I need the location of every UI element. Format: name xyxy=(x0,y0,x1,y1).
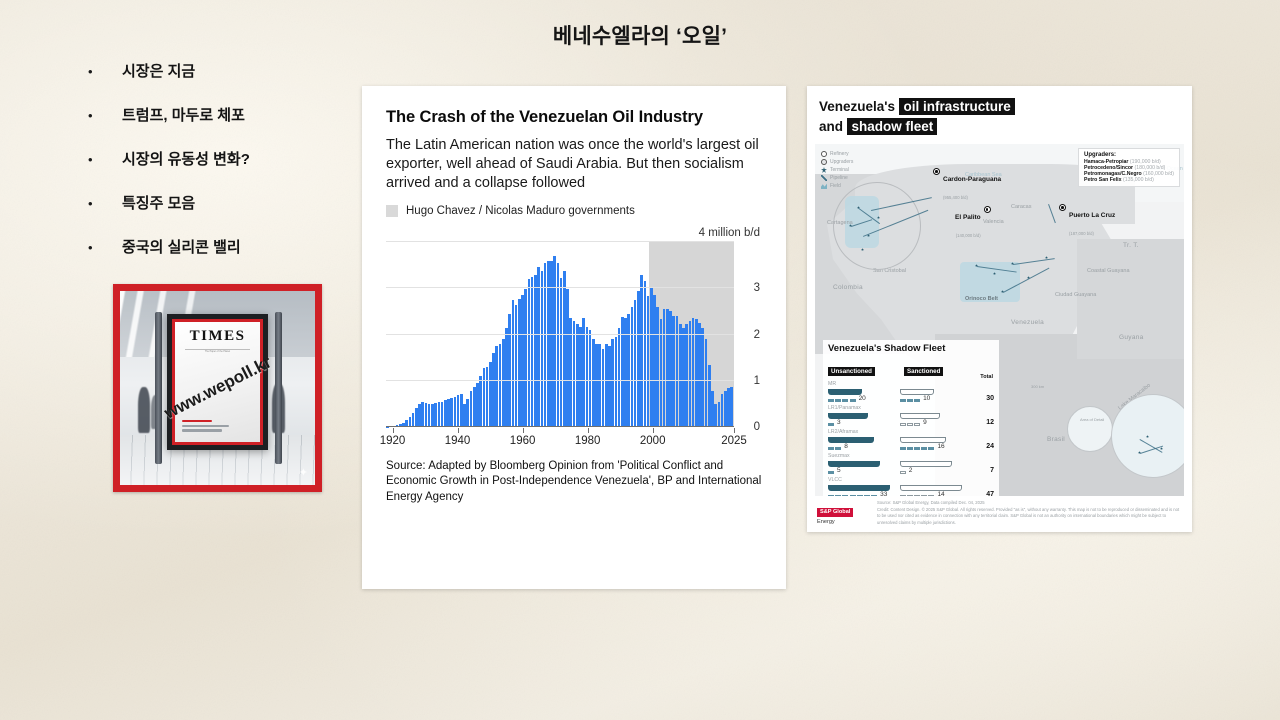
map-panel: Venezuela's oil infrastructure and shado… xyxy=(807,86,1192,532)
y-tick-label: 2 xyxy=(754,329,760,341)
count-block xyxy=(914,447,920,450)
magazine-subhead: The Paper of the Planet xyxy=(185,350,250,353)
bar xyxy=(589,330,592,428)
count-block xyxy=(914,399,920,402)
bar xyxy=(637,291,640,427)
list-item[interactable]: • 시장은 지금 xyxy=(88,60,388,94)
sanctioned-count: 16 xyxy=(937,443,944,450)
upgraders-title: Upgraders: xyxy=(1084,152,1174,158)
chart-legend: Hugo Chavez / Nicolas Maduro governments xyxy=(386,205,762,217)
bar xyxy=(634,300,637,427)
map-header: Venezuela's oil infrastructure and shado… xyxy=(807,86,1192,142)
bar xyxy=(727,388,730,427)
bullet-marker-icon: • xyxy=(88,241,122,254)
bar xyxy=(492,353,495,427)
legend-item-label: Field xyxy=(830,183,841,189)
chart-plot-area: 0123 192019401960198020002025 xyxy=(386,242,762,445)
bar xyxy=(415,408,418,427)
bar xyxy=(444,400,447,427)
bar xyxy=(531,277,534,427)
bar xyxy=(563,271,566,427)
count-blocks xyxy=(828,447,841,450)
bar xyxy=(569,318,572,427)
site-capacity: (955,400 b/d) xyxy=(943,195,968,200)
bar xyxy=(698,323,701,428)
sanctioned-count: 10 xyxy=(923,395,930,402)
country-label-venezuela: Venezuela xyxy=(1011,319,1044,326)
logo-sub: Energy xyxy=(817,519,869,525)
count-block xyxy=(914,495,920,496)
bar-series xyxy=(386,242,734,427)
bar xyxy=(550,261,553,427)
column-header-unsanctioned: Unsanctioned xyxy=(828,367,875,376)
bar xyxy=(644,281,647,428)
bar xyxy=(595,344,598,427)
bar xyxy=(486,367,489,427)
ship-icon xyxy=(900,413,940,419)
count-block xyxy=(835,447,841,450)
bar xyxy=(418,404,421,427)
x-tick-label: 2000 xyxy=(640,435,666,447)
bar xyxy=(566,289,569,427)
pipeline-icon xyxy=(821,175,827,181)
inset-label: Area of Detail xyxy=(1080,417,1104,422)
gridline xyxy=(386,334,734,335)
y-tick-label: 0 xyxy=(754,421,760,433)
map-title-part: and xyxy=(819,119,843,134)
place-label-caracas: Caracas xyxy=(1011,204,1031,210)
shadow-fleet-table: Venezuela's Shadow Fleet Unsanctioned Sa… xyxy=(823,340,999,496)
bar xyxy=(441,402,444,427)
bar xyxy=(450,398,453,428)
row-total: 47 xyxy=(966,491,994,496)
bar xyxy=(476,383,479,427)
bar xyxy=(541,271,544,427)
bar xyxy=(428,404,431,427)
site-el-palito[interactable]: El Palito (140,000 b/d) xyxy=(955,206,991,242)
chart-description: The Latin American nation was once the w… xyxy=(386,136,762,193)
scale-label: 300 km xyxy=(1031,384,1044,389)
table-row: 3912 xyxy=(828,411,994,426)
refinery-icon xyxy=(933,168,940,175)
bar xyxy=(505,328,508,427)
bar xyxy=(647,296,650,427)
count-block xyxy=(921,447,927,450)
bar xyxy=(479,376,482,427)
ship-icon xyxy=(828,389,862,395)
fleet-total-cell: 12 xyxy=(966,411,994,426)
text-line xyxy=(182,429,221,431)
x-tick xyxy=(523,428,524,433)
site-label: Puerto La Cruz xyxy=(1069,212,1115,219)
count-block xyxy=(900,471,906,474)
count-block xyxy=(907,399,913,402)
list-item-label: 시장의 유동성 변화? xyxy=(122,148,250,169)
refinery-icon xyxy=(821,151,827,157)
bar xyxy=(618,328,621,427)
bar xyxy=(412,413,415,427)
area-of-detail-inset: Area of Detail xyxy=(1067,406,1113,452)
sanctioned-count: 14 xyxy=(937,491,944,496)
bullet-list: • 시장은 지금 • 트럼프, 마두로 체포 • 시장의 유동성 변화? • 특… xyxy=(88,60,388,280)
count-block xyxy=(828,495,834,496)
chart-title: The Crash of the Venezuelan Oil Industry xyxy=(386,108,762,128)
count-blocks xyxy=(828,423,834,426)
chart-source: Source: Adapted by Bloomberg Opinion fro… xyxy=(386,459,762,505)
bar xyxy=(466,399,469,428)
unsanctioned-count: 5 xyxy=(837,467,841,474)
bar xyxy=(473,387,476,427)
gridline xyxy=(386,287,734,288)
x-axis-line xyxy=(386,426,734,427)
list-item[interactable]: • 중국의 실리콘 밸리 xyxy=(88,236,388,270)
bar xyxy=(631,307,634,427)
y-tick-label: 3 xyxy=(754,282,760,294)
x-tick-label: 2025 xyxy=(721,435,747,447)
bar xyxy=(524,289,527,427)
ship-icon xyxy=(828,461,880,467)
row-total: 7 xyxy=(966,467,994,474)
magazine-title: TIMES xyxy=(175,328,260,345)
count-blocks xyxy=(900,447,935,450)
table-row: 201030 xyxy=(828,387,994,402)
bar xyxy=(650,288,653,427)
legend-item: Upgraders xyxy=(821,158,853,166)
kicker-line xyxy=(182,420,211,422)
bar xyxy=(721,394,724,427)
bar xyxy=(656,307,659,427)
bar xyxy=(489,362,492,428)
country-label-guyana: Guyana xyxy=(1119,334,1144,341)
count-block xyxy=(928,447,934,450)
ship-icon xyxy=(828,437,874,443)
site-capacity: (187,000 b/d) xyxy=(1069,231,1094,236)
bar xyxy=(553,256,556,428)
sign-pole xyxy=(275,312,282,463)
bar xyxy=(730,387,733,427)
row-total: 30 xyxy=(966,395,994,402)
chart-unit-label: 4 million b/d xyxy=(386,227,762,239)
logo-main: S&P Global xyxy=(817,508,853,517)
maracaibo-detail-ring xyxy=(833,182,921,270)
bullet-marker-icon: • xyxy=(88,153,122,166)
text-line xyxy=(182,425,228,427)
plot-inner xyxy=(386,242,734,427)
ship-icon xyxy=(900,461,952,467)
count-block xyxy=(835,399,841,402)
fleet-total-cell: 24 xyxy=(966,435,994,450)
bar xyxy=(605,344,608,427)
count-block xyxy=(828,399,834,402)
bar xyxy=(689,321,692,427)
count-block xyxy=(828,423,834,426)
fleet-unsanctioned-cell: 5 xyxy=(828,461,900,474)
count-block xyxy=(842,399,848,402)
x-tick-label: 1920 xyxy=(380,435,406,447)
bar xyxy=(431,404,434,427)
count-blocks xyxy=(828,471,834,474)
fleet-column-headers: Unsanctioned Sanctioned xyxy=(828,360,994,378)
country-label-colombia: Colombia xyxy=(833,284,863,291)
list-item[interactable]: • 특징주 모음 xyxy=(88,192,388,226)
bullet-marker-icon: • xyxy=(88,65,122,78)
bar xyxy=(518,299,521,428)
x-tick-label: 1980 xyxy=(575,435,601,447)
ship-icon xyxy=(900,389,934,395)
count-block xyxy=(857,495,863,496)
upgrader-name: Petro San Felix xyxy=(1084,177,1121,183)
fleet-unsanctioned-cell: 33 xyxy=(828,485,900,496)
refinery-icon xyxy=(984,206,991,213)
bar xyxy=(669,311,672,427)
bar xyxy=(560,278,563,427)
count-block xyxy=(928,495,934,496)
ship-icon xyxy=(828,413,868,419)
fleet-unsanctioned-cell: 20 xyxy=(828,389,900,402)
count-blocks xyxy=(900,423,920,426)
bar xyxy=(421,402,424,427)
count-block xyxy=(900,447,906,450)
page-title: 베네수엘라의 ‘오일’ xyxy=(0,20,1280,50)
place-label-ciudad-guayana: Ciudad Guayana xyxy=(1055,292,1096,298)
ship-icon xyxy=(828,485,890,491)
fleet-rows: MR201030LR1/Panamax3912LR2/Aframax81624S… xyxy=(828,381,994,496)
list-item[interactable]: • 시장의 유동성 변화? xyxy=(88,148,388,182)
bar xyxy=(627,314,630,427)
map-footer: S&P Global Energy Source: S&P Global Ene… xyxy=(807,496,1192,526)
bar xyxy=(679,324,682,428)
bar xyxy=(705,339,708,427)
map-title-highlight: oil infrastructure xyxy=(899,98,1014,115)
sanctioned-count: 2 xyxy=(909,467,913,474)
bar xyxy=(682,328,685,427)
bar xyxy=(534,275,537,428)
bullet-marker-icon: • xyxy=(88,109,122,122)
chart-panel: The Crash of the Venezuelan Oil Industry… xyxy=(362,86,786,589)
bar xyxy=(663,309,666,427)
x-tick xyxy=(653,428,654,433)
count-block xyxy=(907,495,913,496)
count-block xyxy=(900,423,906,426)
legend-item: Terminal xyxy=(821,166,853,174)
count-block xyxy=(907,447,913,450)
site-capacity: (140,000 b/d) xyxy=(956,233,981,238)
bar xyxy=(528,279,531,427)
fleet-total-cell: 7 xyxy=(966,459,994,474)
count-block xyxy=(900,495,906,496)
y-tick-label: 1 xyxy=(754,375,760,387)
fleet-sanctioned-cell: 9 xyxy=(900,413,966,426)
table-row: 331447 xyxy=(828,483,994,496)
count-block xyxy=(914,423,920,426)
count-block xyxy=(864,495,870,496)
list-item-label: 특징주 모음 xyxy=(122,192,195,213)
count-block xyxy=(828,447,834,450)
legend-swatch-icon xyxy=(386,205,398,217)
bar xyxy=(695,319,698,427)
row-total: 12 xyxy=(966,419,994,426)
bar xyxy=(714,404,717,428)
map-title-part: Venezuela's xyxy=(819,99,895,114)
place-label-orinoco-belt: Orinoco Belt xyxy=(965,296,998,302)
field-icon xyxy=(821,183,827,189)
person-silhouette xyxy=(138,387,150,433)
refinery-icon xyxy=(1059,204,1066,211)
fleet-unsanctioned-cell: 8 xyxy=(828,437,900,450)
fleet-total-cell: 47 xyxy=(966,483,994,496)
count-block xyxy=(900,399,906,402)
column-header-total: Total xyxy=(980,374,993,380)
site-label: El Palito xyxy=(955,214,981,221)
upgrader-capacity: (135,000 b/d) xyxy=(1123,177,1154,183)
unsanctioned-count: 33 xyxy=(880,491,887,496)
bar xyxy=(708,365,711,427)
map-canvas[interactable]: Refinery Upgraders Terminal Pipeline Fie… xyxy=(815,144,1184,496)
bar xyxy=(579,327,582,427)
map-title-highlight: shadow fleet xyxy=(847,118,937,135)
fleet-unsanctioned-cell: 3 xyxy=(828,413,900,426)
bar xyxy=(573,321,576,427)
fleet-sanctioned-cell: 10 xyxy=(900,389,966,402)
bar xyxy=(502,339,505,427)
x-tick xyxy=(588,428,589,433)
unsanctioned-count: 3 xyxy=(837,419,841,426)
bar xyxy=(666,309,669,427)
bar xyxy=(711,391,714,428)
landmass-guyana xyxy=(1077,239,1184,359)
legend-item: Pipeline xyxy=(821,174,853,182)
row-total: 24 xyxy=(966,443,994,450)
bar xyxy=(438,402,441,427)
bar xyxy=(586,327,589,427)
bar xyxy=(425,403,428,428)
table-row: 527 xyxy=(828,459,994,474)
bar xyxy=(653,295,656,427)
poster-image: TIMES The Paper of the Planet www.wepoll… xyxy=(113,284,322,492)
bar xyxy=(660,319,663,427)
column-header-sanctioned: Sanctioned xyxy=(904,367,943,376)
legend-item-label: Pipeline xyxy=(830,175,848,181)
count-blocks xyxy=(900,471,906,474)
fleet-sanctioned-cell: 14 xyxy=(900,485,966,496)
terminal-marker xyxy=(1146,435,1149,438)
count-block xyxy=(907,423,913,426)
unsanctioned-count: 20 xyxy=(859,395,866,402)
count-block xyxy=(842,495,848,496)
bar xyxy=(508,314,511,427)
bar xyxy=(701,328,704,427)
upgrader-item: Petro San Felix (135,000 b/d) xyxy=(1084,177,1174,183)
legend-item-label: Refinery xyxy=(830,151,849,157)
upgraders-icon xyxy=(821,159,827,165)
sign-pole xyxy=(155,312,162,463)
bar xyxy=(447,399,450,428)
table-row: 81624 xyxy=(828,435,994,450)
bar xyxy=(692,318,695,427)
site-label: Cardon-Paraguana xyxy=(943,176,1001,183)
bar xyxy=(457,395,460,427)
terminal-icon xyxy=(821,167,827,173)
country-label-brasil: Brasil xyxy=(1047,436,1065,443)
legend-item-label: Upgraders xyxy=(830,159,853,165)
fleet-sanctioned-cell: 2 xyxy=(900,461,966,474)
fleet-title: Venezuela's Shadow Fleet xyxy=(828,344,994,355)
bar xyxy=(640,275,643,427)
site-cardon-paraguana[interactable]: Cardon-Paraguana (955,400 b/d) xyxy=(933,168,1001,204)
count-blocks xyxy=(828,399,856,402)
bar xyxy=(454,397,457,428)
bullet-marker-icon: • xyxy=(88,197,122,210)
map-credit-line: Credit: Content Design. © 2025 S&P Globa… xyxy=(877,507,1182,527)
bar xyxy=(499,344,502,427)
bar xyxy=(615,337,618,427)
magazine-footer xyxy=(182,420,252,434)
count-block xyxy=(850,495,856,496)
count-block xyxy=(921,495,927,496)
bar xyxy=(576,324,579,428)
list-item-label: 중국의 실리콘 밸리 xyxy=(122,236,241,257)
legend-item-label: Terminal xyxy=(830,167,849,173)
list-item[interactable]: • 트럼프, 마두로 체포 xyxy=(88,104,388,138)
x-tick xyxy=(458,428,459,433)
bar xyxy=(512,300,515,427)
bar xyxy=(495,346,498,427)
x-tick-label: 1960 xyxy=(510,435,536,447)
count-blocks xyxy=(828,495,877,496)
bar xyxy=(608,346,611,427)
bar xyxy=(460,394,463,427)
x-tick xyxy=(734,428,735,433)
bar xyxy=(515,305,518,428)
count-blocks xyxy=(900,399,920,402)
legend-item: Field xyxy=(821,182,853,190)
site-puerto-la-cruz[interactable]: Puerto La Cruz (187,000 b/d) xyxy=(1059,204,1115,240)
bar xyxy=(547,261,550,428)
bar xyxy=(537,267,540,427)
count-block xyxy=(850,399,856,402)
unsanctioned-count: 8 xyxy=(844,443,848,450)
gridline xyxy=(386,241,734,242)
count-block xyxy=(871,495,877,496)
list-item-label: 트럼프, 마두로 체포 xyxy=(122,104,245,125)
bar xyxy=(592,339,595,427)
bar xyxy=(724,391,727,427)
bar xyxy=(602,349,605,427)
x-tick-label: 1940 xyxy=(445,435,471,447)
count-block xyxy=(828,471,834,474)
ship-icon xyxy=(900,437,946,443)
sparkle-icon: ✦ xyxy=(299,466,308,479)
country-label-trinidad: Tr. T. xyxy=(1123,242,1139,249)
map-credit: Source: S&P Global Energy, Data compiled… xyxy=(877,500,1182,526)
count-block xyxy=(835,495,841,496)
bar xyxy=(463,404,466,427)
legend-item: Refinery xyxy=(821,150,853,158)
bar xyxy=(434,403,437,427)
fleet-total-cell: 30 xyxy=(966,387,994,402)
gridline xyxy=(386,380,734,381)
bar xyxy=(598,344,601,427)
bar xyxy=(718,402,721,427)
upgraders-callout: Upgraders: Hamaca-Petropiar (190,000 b/d… xyxy=(1078,148,1180,187)
map-legend: Refinery Upgraders Terminal Pipeline Fie… xyxy=(821,150,853,190)
bar xyxy=(611,339,614,427)
count-blocks xyxy=(900,495,935,496)
legend-label: Hugo Chavez / Nicolas Maduro governments xyxy=(406,205,635,217)
bar xyxy=(685,324,688,428)
sp-global-logo: S&P Global Energy xyxy=(817,500,869,526)
bar xyxy=(483,368,486,427)
